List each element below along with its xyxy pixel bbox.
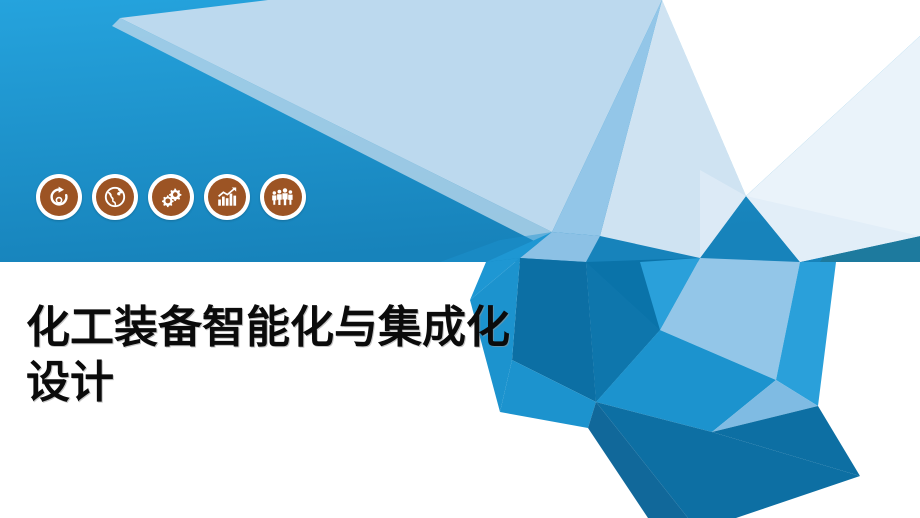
recycle-arrow-icon: [40, 178, 78, 216]
gears-icon: [152, 178, 190, 216]
icon-badge-recycle[interactable]: [36, 174, 82, 220]
icon-badge-globe[interactable]: [92, 174, 138, 220]
bar-chart-growth-icon: [208, 178, 246, 216]
feature-icon-row: [36, 174, 306, 220]
title-block: 化工装备智能化与集成化设计: [26, 300, 546, 410]
low-poly-crystal-graphic: [0, 0, 920, 518]
header-tagline: 数智创新 变革未来: [713, 27, 896, 57]
globe-icon: [96, 178, 134, 216]
slide-canvas: 数智创新 变革未来: [0, 0, 920, 518]
icon-badge-bar-chart[interactable]: [204, 174, 250, 220]
people-group-icon: [264, 178, 302, 216]
page-title: 化工装备智能化与集成化设计: [26, 300, 546, 410]
icon-badge-gears[interactable]: [148, 174, 194, 220]
icon-badge-people[interactable]: [260, 174, 306, 220]
